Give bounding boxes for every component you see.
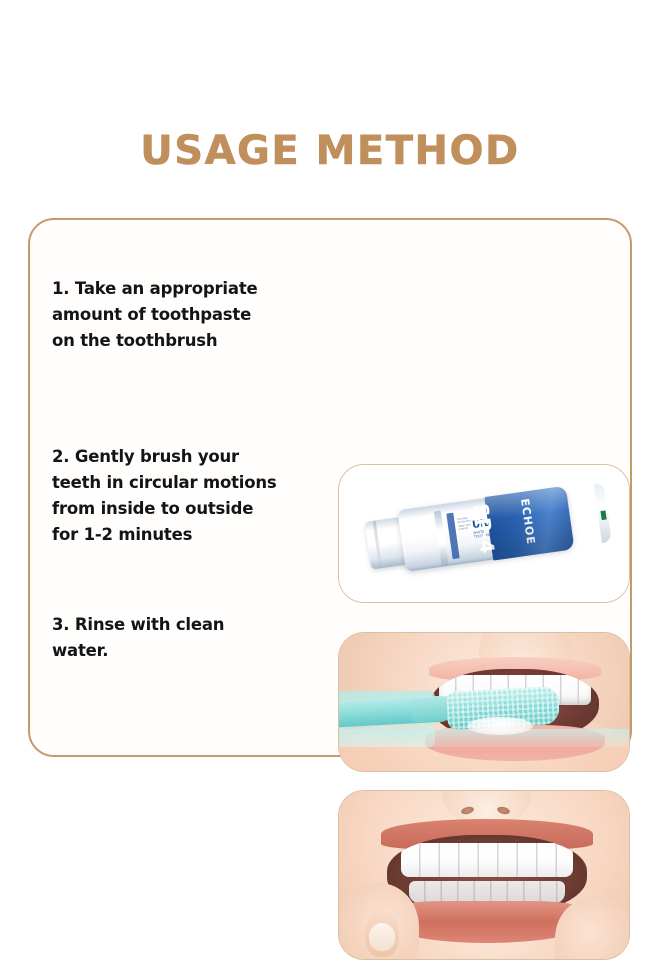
content-frame: 1. Take an appropriate amount of toothpa… [28,218,632,757]
clean-smile-photo [338,790,630,960]
tube-fine-print: Fluoride protection daily care enamel [457,516,472,531]
toothpaste-tube-image: Fluoride protection daily care enamel Ul… [339,465,629,602]
step-3-text: 3. Rinse with clean water. [52,612,302,664]
clean-smile-image [339,791,629,959]
tube-seal-mark [600,510,606,520]
toothpaste-foam [467,717,533,735]
step-1-text: 1. Take an appropriate amount of toothpa… [52,276,302,354]
lower-teeth-shape [409,881,565,903]
page-title: USAGE METHOD [0,128,660,174]
tube-blue-label: SP-4 ECHOE [484,486,574,561]
toothpaste-tube-photo: Fluoride protection daily care enamel Ul… [338,464,630,603]
tube-graphic: Fluoride protection daily care enamel Ul… [363,479,612,582]
brushing-teeth-photo [338,632,630,772]
tube-end [594,482,612,543]
step-2-text: 2. Gently brush your teeth in circular m… [52,444,310,548]
upper-teeth-shape [401,843,573,877]
brushing-teeth-image [339,633,629,771]
fingernail-shape [369,923,395,951]
tube-brand-label: ECHOE [518,498,537,546]
